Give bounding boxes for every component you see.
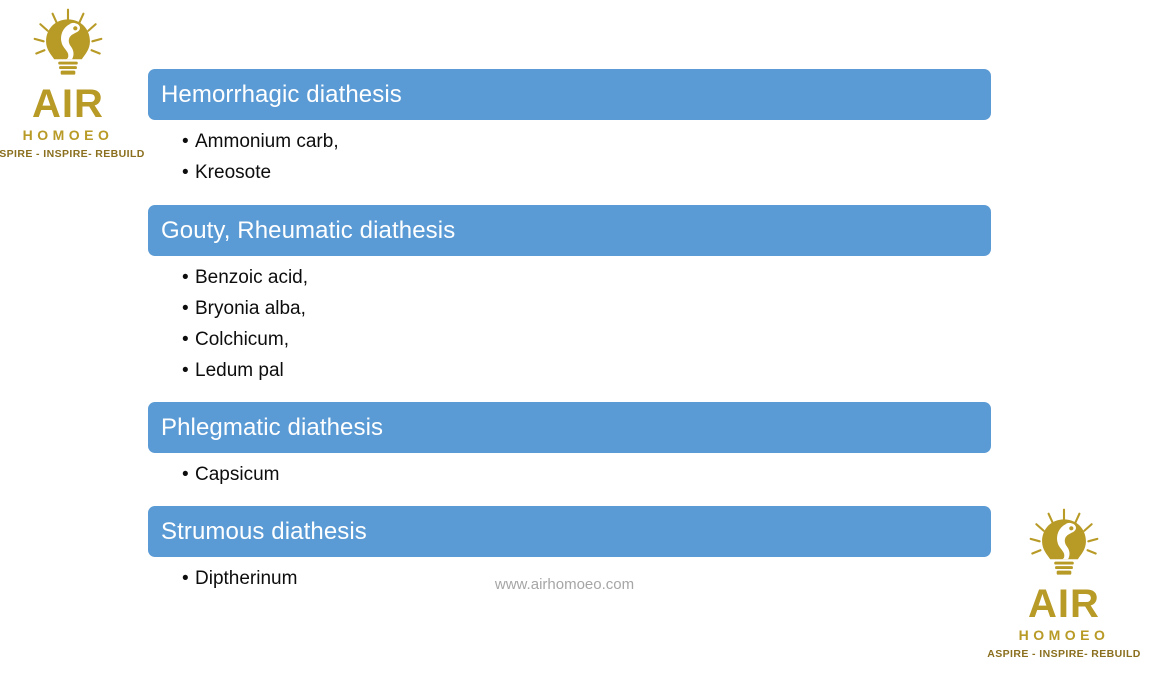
- bullet-icon: •: [182, 293, 195, 324]
- list-item-label: Capsicum: [195, 459, 279, 490]
- section-header-bar: Hemorrhagic diathesis: [148, 69, 991, 120]
- list-item: • Ledum pal: [148, 355, 991, 386]
- section-header-bar: Phlegmatic diathesis: [148, 402, 991, 453]
- bullet-icon: •: [182, 324, 195, 355]
- section-list: • Capsicum: [148, 459, 991, 490]
- list-item-label: Benzoic acid,: [195, 262, 308, 293]
- list-item: • Benzoic acid,: [148, 262, 991, 293]
- list-item: • Capsicum: [148, 459, 991, 490]
- logo-top-left: AIR HOMOEO ASPIRE - INSPIRE- REBUILD: [8, 8, 128, 160]
- footer-website-url: www.airhomoeo.com: [0, 576, 1129, 593]
- bullet-icon: •: [182, 459, 195, 490]
- lightbulb-with-face-icon: [1023, 508, 1105, 586]
- list-item-label: Kreosote: [195, 157, 271, 188]
- logo-subtitle: HOMOEO: [1019, 628, 1110, 642]
- section-title: Strumous diathesis: [161, 520, 367, 544]
- logo-wordmark: AIR: [32, 84, 104, 124]
- bullet-icon: •: [182, 355, 195, 386]
- bullet-icon: •: [182, 262, 195, 293]
- section-list: • Benzoic acid, • Bryonia alba, • Colchi…: [148, 262, 991, 386]
- logo-subtitle: HOMOEO: [23, 128, 114, 142]
- list-item: • Colchicum,: [148, 324, 991, 355]
- logo-tagline: ASPIRE - INSPIRE- REBUILD: [0, 149, 145, 160]
- list-item: • Kreosote: [148, 157, 991, 188]
- list-item-label: Colchicum,: [195, 324, 289, 355]
- list-item-label: Bryonia alba,: [195, 293, 306, 324]
- logo-bottom-right: AIR HOMOEO ASPIRE - INSPIRE- REBUILD: [1004, 508, 1124, 660]
- logo-tagline: ASPIRE - INSPIRE- REBUILD: [987, 649, 1141, 660]
- section-phlegmatic-diathesis: Phlegmatic diathesis • Capsicum: [148, 402, 991, 490]
- section-gouty-rheumatic-diathesis: Gouty, Rheumatic diathesis • Benzoic aci…: [148, 205, 991, 386]
- list-item: • Ammonium carb,: [148, 126, 991, 157]
- section-header-bar: Gouty, Rheumatic diathesis: [148, 205, 991, 256]
- section-title: Phlegmatic diathesis: [161, 416, 383, 440]
- logo-wordmark: AIR: [1028, 584, 1100, 624]
- lightbulb-with-face-icon: [27, 8, 109, 86]
- slide-content: Hemorrhagic diathesis • Ammonium carb, •…: [148, 69, 991, 594]
- section-title: Hemorrhagic diathesis: [161, 83, 402, 107]
- section-header-bar: Strumous diathesis: [148, 506, 991, 557]
- bullet-icon: •: [182, 126, 195, 157]
- list-item: • Bryonia alba,: [148, 293, 991, 324]
- bullet-icon: •: [182, 157, 195, 188]
- section-title: Gouty, Rheumatic diathesis: [161, 219, 455, 243]
- section-list: • Ammonium carb, • Kreosote: [148, 126, 991, 188]
- list-item-label: Ammonium carb,: [195, 126, 339, 157]
- list-item-label: Ledum pal: [195, 355, 284, 386]
- section-hemorrhagic-diathesis: Hemorrhagic diathesis • Ammonium carb, •…: [148, 69, 991, 188]
